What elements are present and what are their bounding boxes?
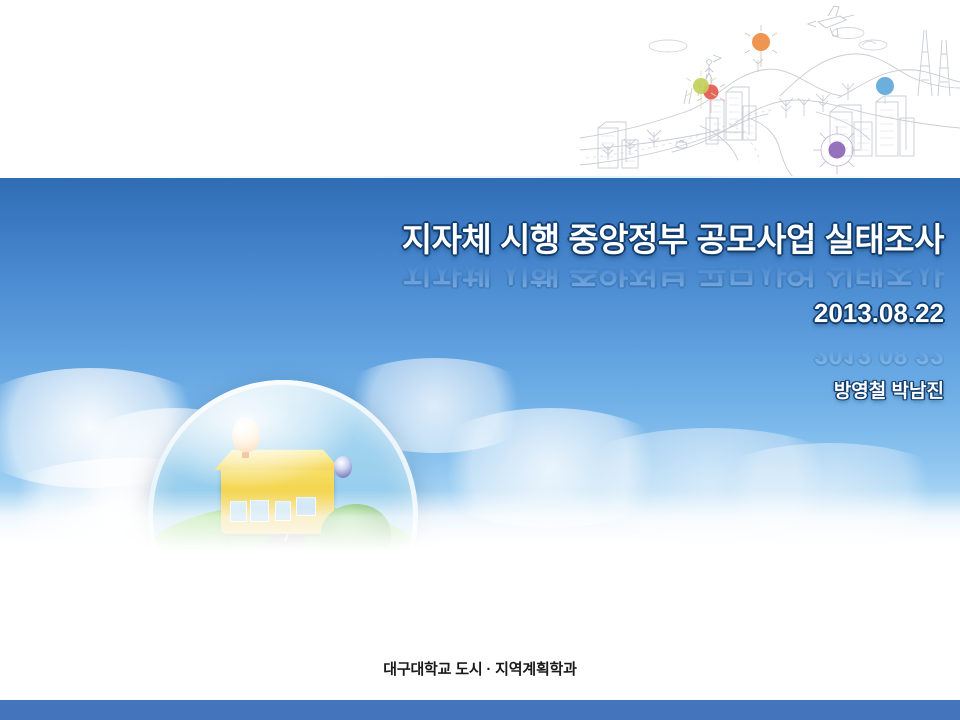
footer-area: 대구대학교 도시 · 지역계획학과 — [0, 550, 960, 700]
hero-bottom-fade — [0, 490, 960, 550]
page-title: 지자체 시행 중앙정부 공모사업 실태조사 — [402, 222, 944, 258]
presenter-names: 방영철 박남진 — [402, 376, 944, 403]
title-text-block: 지자체 시행 중앙정부 공모사업 실태조사 지자체 시행 중앙정부 공모사업 실… — [402, 222, 944, 403]
title-slide: 지자체 시행 중앙정부 공모사업 실태조사 지자체 시행 중앙정부 공모사업 실… — [0, 0, 960, 720]
hot-air-balloon — [232, 418, 260, 452]
glass-sphere — [148, 380, 418, 550]
header-band — [0, 0, 960, 178]
cloud — [700, 443, 960, 543]
sphere-flag — [334, 456, 352, 478]
presentation-date: 2013.08.22 — [402, 298, 944, 329]
sphere-house — [221, 466, 334, 534]
house-window — [275, 501, 291, 521]
header-illustration-svg — [580, 0, 960, 178]
bottom-accent-bar — [0, 700, 960, 720]
presentation-date-reflection: 2013.08.22 — [402, 339, 944, 370]
affiliation-footer: 대구대학교 도시 · 지역계획학과 — [0, 658, 960, 679]
cloud — [560, 428, 860, 538]
house-window — [296, 497, 316, 515]
tree-orange — [745, 25, 777, 67]
cloud — [420, 408, 680, 528]
house-window — [230, 501, 247, 522]
house-window — [250, 500, 269, 522]
city-hills-line-art-illustration — [580, 0, 960, 178]
tree-purple — [813, 126, 861, 174]
sphere-body — [148, 380, 418, 550]
